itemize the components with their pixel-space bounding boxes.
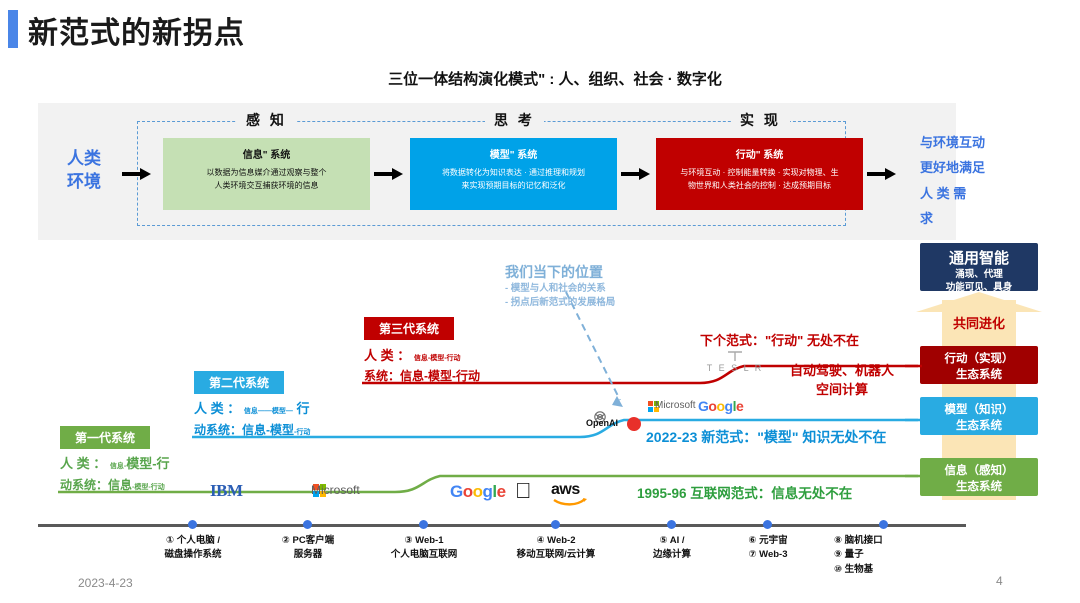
timeline-label-5: ⑤ AI / 边缘计算 <box>617 534 727 563</box>
generation-tag-3: 第三代系统 <box>364 317 454 340</box>
agi-box: 通用智能 涌现、代理 功能可见、具身 <box>920 243 1038 291</box>
google-logo: Google <box>450 482 506 502</box>
coevolution-arrow-icon <box>916 292 1042 312</box>
system-box-title: 模型" 系统 <box>410 146 617 161</box>
aws-smile-icon <box>553 498 587 506</box>
ecosystem-line1: 行动（实现） <box>920 352 1038 368</box>
timeline-label-3: ③ Web-1 个人电脑互联网 <box>359 534 489 563</box>
timeline-dot <box>551 520 560 529</box>
timeline-label-7: ⑧ 脑机接口 ⑨ 量子 ⑩ 生物基 <box>834 534 944 577</box>
tesla-logo: T E S L R <box>700 363 770 373</box>
ecosystem-line2: 生态系统 <box>920 419 1038 435</box>
agi-sub2: 功能可见、具身 <box>920 282 1038 295</box>
gen3-system-line: 系统：信息-模型-行动 <box>364 367 480 384</box>
phase-label-realize: 实 现 <box>731 110 790 130</box>
current-position-bullet-1: - 模型与人和社会的关系 <box>505 282 615 296</box>
arrow-icon-3 <box>621 168 651 180</box>
next-paradigm-label: 下个范式："行动" 无处不在 <box>700 330 859 349</box>
generation-tag-2: 第二代系统 <box>194 371 284 394</box>
system-box-title: 信息" 系统 <box>163 146 370 161</box>
system-box-title: 行动" 系统 <box>656 146 863 161</box>
system-box-information: 信息" 系统 以数据为信息媒介通过观察与整个 人类环境交互捕获环境的信息 <box>163 138 370 210</box>
system-box-desc-line1: 与环境互动 · 控制能量转换 · 实现对物理、生 <box>656 166 863 179</box>
openai-logo: OpenAI <box>576 418 628 428</box>
gen1-human-line: 人 类 ： 信息-模型-行 <box>60 453 170 472</box>
footer-page-number: 4 <box>996 574 1003 588</box>
timeline-dot <box>763 520 772 529</box>
phase-label-perceive: 感 知 <box>237 110 296 130</box>
timeline-label-6: ⑥ 元宇宙 ⑦ Web-3 <box>713 534 823 563</box>
arrow-icon-1 <box>122 168 152 180</box>
aws-logo: aws <box>551 481 580 499</box>
human-environment-label: 人类 环境 <box>48 148 120 194</box>
system-box-model: 模型" 系统 将数据转化为知识表达 · 通过推理和规划 来实现预期目标的记忆和泛… <box>410 138 617 210</box>
timeline-axis <box>38 524 966 527</box>
ecosystem-line1: 信息（感知） <box>920 464 1038 480</box>
timeline-dot <box>303 520 312 529</box>
agi-sub1: 涌现、代理 <box>920 269 1038 282</box>
generation-tag-1: 第一代系统 <box>60 426 150 449</box>
gen1-system-line: 动系统：信息-模型-行动 <box>60 476 165 493</box>
ecosystem-box-model: 模型（知识） 生态系统 <box>920 397 1038 435</box>
ecosystem-line1: 模型（知识） <box>920 403 1038 419</box>
current-position-bullet-2: - 拐点后新范式的发展格局 <box>505 296 615 310</box>
slide-subtitle: 三位一体结构演化模式" : 人、组织、社会 · 数字化 <box>0 68 1080 89</box>
arrow-icon-4 <box>867 168 897 180</box>
system-box-desc-line2: 人类环境交互捕获环境的信息 <box>163 179 370 192</box>
timeline-dot <box>419 520 428 529</box>
timeline-dot <box>667 520 676 529</box>
coevolution-label: 共同进化 <box>920 313 1038 332</box>
system-box-desc-line1: 将数据转化为知识表达 · 通过推理和规划 <box>410 166 617 179</box>
microsoft-logo-text: Microsoft <box>311 483 360 497</box>
gen2-human-line: 人 类 ： 信息——模型— 行 <box>194 398 310 417</box>
ecosystem-box-information: 信息（感知） 生态系统 <box>920 458 1038 496</box>
slide-canvas: 新范式的新拐点 三位一体结构演化模式" : 人、组织、社会 · 数字化 人类 环… <box>0 0 1080 603</box>
system-box-desc-line2: 来实现预期目标的记忆和泛化 <box>410 179 617 192</box>
system-box-desc-line1: 以数据为信息媒介通过观察与整个 <box>163 166 370 179</box>
timeline-dot <box>188 520 197 529</box>
current-position-annotation: 我们当下的位置 - 模型与人和社会的关系 - 拐点后新范式的发展格局 <box>505 262 615 311</box>
paradigm-2022-label: 2022-23 新范式："模型" 知识无处不在 <box>646 427 886 447</box>
timeline-label-4: ④ Web-2 移动互联网/云计算 <box>486 534 626 563</box>
system-box-action: 行动" 系统 与环境互动 · 控制能量转换 · 实现对物理、生 物世界和人类社会… <box>656 138 863 210</box>
apple-logo-icon:  <box>515 478 532 504</box>
page-title: 新范式的新拐点 <box>28 8 245 52</box>
ecosystem-line2: 生态系统 <box>920 480 1038 496</box>
system-box-desc-line2: 物世界和人类社会的控制 · 达成预期目标 <box>656 179 863 192</box>
outcome-text: 与环境互动 更好地满足 人 类 需 求 <box>920 130 1050 231</box>
paradigm-1995-label: 1995-96 互联网范式：信息无处不在 <box>637 482 852 502</box>
footer-date: 2023-4-23 <box>78 576 133 590</box>
timeline-dot <box>879 520 888 529</box>
phase-label-think: 思 考 <box>485 110 544 130</box>
gen2-system-line: 动系统：信息-模型-行动 <box>194 421 310 438</box>
ecosystem-box-action: 行动（实现） 生态系统 <box>920 346 1038 384</box>
microsoft-logo-text-2: Microsoft <box>655 400 696 411</box>
ibm-logo: IBM <box>210 481 243 501</box>
ecosystem-line2: 生态系统 <box>920 368 1038 384</box>
title-accent-bar <box>8 10 18 48</box>
arrow-icon-2 <box>374 168 404 180</box>
current-position-heading: 我们当下的位置 <box>505 262 615 282</box>
next-paradigm-description: 自动驾驶、机器人 空间计算 <box>772 362 912 400</box>
google-logo-2: Google <box>698 398 743 414</box>
timeline-label-2: ② PC客户端 服务器 <box>248 534 368 563</box>
agi-title: 通用智能 <box>920 247 1038 268</box>
gen3-human-line: 人 类 ： 信息-模型-行动 <box>364 345 461 364</box>
timeline-label-1: ① 个人电脑 / 磁盘操作系统 <box>128 534 258 563</box>
